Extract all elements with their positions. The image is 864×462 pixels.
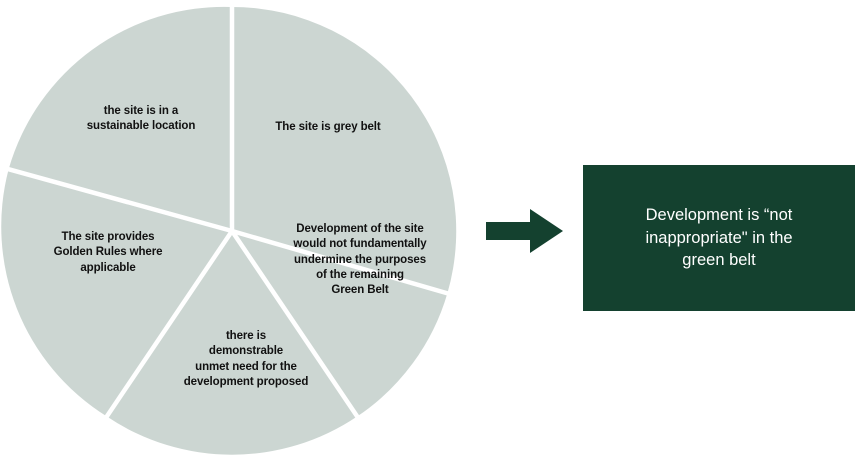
- right-arrow-shape: [486, 209, 563, 253]
- outcome-text: Development is “not inappropriate" in th…: [645, 204, 792, 272]
- diagram-canvas: The site is grey belt Development of the…: [0, 0, 864, 462]
- outcome-box: Development is “not inappropriate" in th…: [583, 165, 855, 311]
- right-arrow-icon: [486, 208, 564, 254]
